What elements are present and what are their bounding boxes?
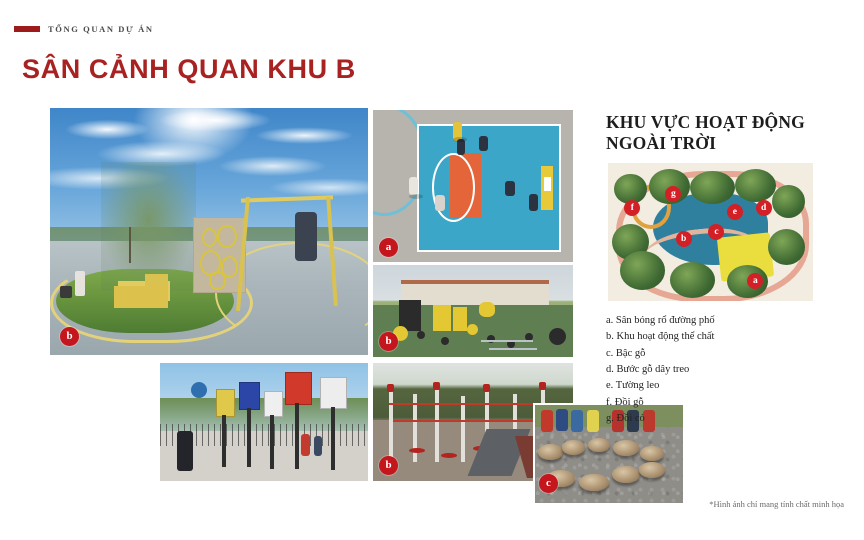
post-cap <box>483 384 490 392</box>
post-cap <box>539 382 546 390</box>
child <box>571 410 583 432</box>
child-player <box>177 431 193 471</box>
tree-cluster <box>670 262 715 298</box>
child-on-swing <box>295 212 317 261</box>
photo-marker-b: b <box>60 327 79 346</box>
wood-stump <box>562 440 586 455</box>
gym-panel-yellow <box>433 305 451 331</box>
gym-panel-yellow <box>479 302 495 317</box>
stepping-disc <box>441 453 457 458</box>
yellow-block <box>145 274 167 286</box>
rope-line <box>389 403 545 405</box>
tree-canopy <box>101 162 196 290</box>
exercise-ball-dark <box>549 328 566 345</box>
center-circle <box>432 153 475 222</box>
climbing-post <box>389 389 393 462</box>
breadcrumb: TỔNG QUAN DỰ ÁN <box>14 24 154 34</box>
hoop-backboard-white <box>264 391 283 417</box>
training-bar <box>481 340 533 342</box>
site-plan-title: KHU VỰC HOẠT ĐỘNG NGOÀI TRỜI <box>606 112 836 155</box>
post-cap <box>433 382 440 390</box>
climbing-post <box>461 396 465 462</box>
post-cap <box>387 384 394 392</box>
basketball-court-aerial-photo[interactable]: a <box>373 110 573 262</box>
site-plan-title-line1: KHU VỰC HOẠT ĐỘNG <box>606 112 836 133</box>
wood-stump <box>579 474 609 492</box>
player <box>505 181 515 196</box>
legend-item-e: e. Tường leo <box>606 379 816 393</box>
hoop-pole <box>222 415 226 467</box>
plan-marker-b[interactable]: b <box>676 231 692 247</box>
tree-trunk <box>129 227 131 263</box>
hoop-backboard-blue <box>239 382 260 410</box>
footnote: *Hình ảnh chỉ mang tính chất minh họa <box>709 499 844 509</box>
child <box>556 409 568 431</box>
outdoor-gym-photo[interactable]: b <box>373 265 573 357</box>
site-plan-map[interactable]: a b c d e f g <box>608 163 813 301</box>
site-plan-title-line2: NGOÀI TRỜI <box>606 133 836 154</box>
tree-cluster <box>772 185 805 218</box>
playground-swing-photo[interactable]: b <box>50 108 368 355</box>
wood-stump <box>538 444 563 460</box>
page-title: SÂN CẢNH QUAN KHU B <box>22 54 356 85</box>
hoop-backboard-red <box>285 372 312 405</box>
climbing-post <box>435 387 439 463</box>
legend-item-b: b. Khu hoạt động thể chất <box>606 330 816 344</box>
player <box>479 136 488 151</box>
photo-marker-c: c <box>539 474 558 493</box>
player <box>529 194 538 211</box>
child <box>587 410 599 432</box>
stepping-disc <box>409 448 425 453</box>
slide-canvas: TỔNG QUAN DỰ ÁN SÂN CẢNH QUAN KHU B b <box>0 0 864 540</box>
weight-ball <box>441 337 449 345</box>
player <box>435 195 445 211</box>
dog <box>60 286 73 298</box>
hoop-pole <box>331 407 335 471</box>
legend-item-f: f. Đồi gỗ <box>606 396 816 410</box>
tree-cluster <box>768 229 805 265</box>
hoop-pole <box>247 408 251 467</box>
hoop-pole <box>270 415 274 469</box>
child <box>541 410 553 432</box>
plan-marker-d[interactable]: d <box>756 200 772 216</box>
photo-marker-a: a <box>379 238 398 257</box>
player-shadow <box>409 194 423 199</box>
wood-stump <box>613 440 638 456</box>
wood-stump <box>640 446 664 461</box>
hoop-backboard-white <box>320 377 347 409</box>
basketball <box>191 382 207 398</box>
hoop-backboard-yellow <box>216 389 235 417</box>
player <box>409 177 418 195</box>
mural-circle-icon <box>202 228 217 247</box>
legend-item-d: d. Bước gỗ dây treo <box>606 363 816 377</box>
legend-item-c: c. Bậc gỗ <box>606 347 816 361</box>
tree-cluster <box>735 169 776 202</box>
child-player <box>301 434 310 456</box>
hoop-pole <box>295 403 299 469</box>
accent-bar-icon <box>14 26 40 32</box>
mural-circle-icon <box>217 225 236 248</box>
gym-panel-yellow <box>453 307 467 331</box>
photo-marker-b: b <box>379 456 398 475</box>
mural-circle-icon <box>209 271 225 290</box>
tree-cluster <box>620 251 665 290</box>
exercise-ball-yellow <box>467 324 478 335</box>
yellow-bench <box>114 286 168 308</box>
rope-line <box>393 420 537 422</box>
child-player <box>314 436 322 456</box>
legend-list: a. Sân bóng rổ đường phố b. Khu hoạt độn… <box>606 314 816 426</box>
training-bar <box>489 348 537 350</box>
basketball-hoops-photo[interactable] <box>160 363 368 481</box>
backboard <box>541 166 554 211</box>
legend-item-g: g. Đồi cỏ <box>606 412 816 426</box>
backboard-square <box>544 177 552 190</box>
legend: a. Sân bóng rổ đường phố b. Khu hoạt độn… <box>606 314 816 429</box>
photo-marker-b: b <box>379 332 398 351</box>
sun-glow <box>133 108 254 162</box>
court-surface <box>417 124 561 253</box>
breadcrumb-label: TỔNG QUAN DỰ ÁN <box>48 24 154 34</box>
legend-item-a: a. Sân bóng rổ đường phố <box>606 314 816 328</box>
person-walking <box>75 271 85 296</box>
